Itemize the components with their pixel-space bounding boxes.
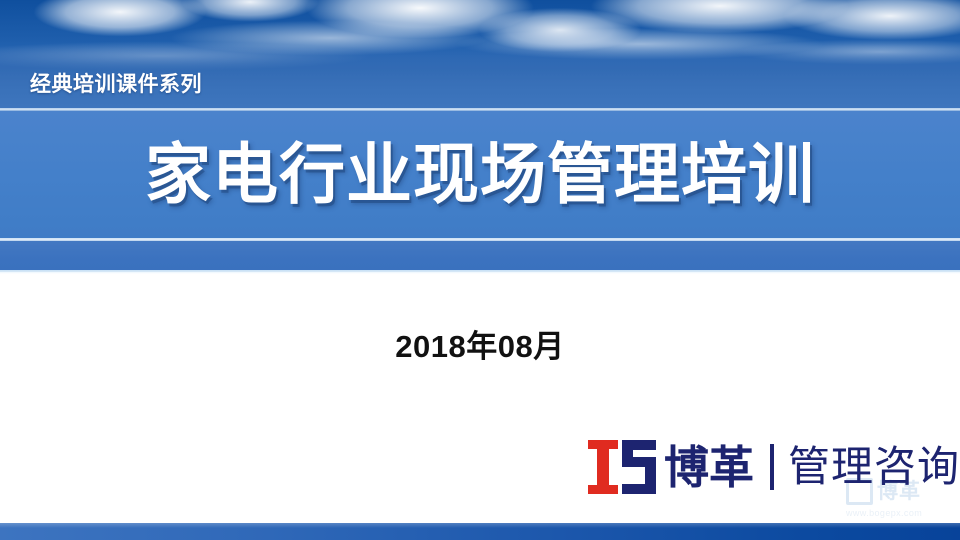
- brand-logo: 博革 管理咨询: [586, 432, 930, 502]
- bogé-logo-mark-icon: [586, 438, 658, 496]
- lower-accent-band: [0, 241, 960, 272]
- footer-sheen: [0, 523, 960, 528]
- slide-title: 家电行业现场管理培训: [0, 130, 960, 218]
- brand-tagline: 管理咨询: [788, 446, 960, 488]
- slide-date: 2018年08月: [0, 321, 960, 366]
- divider-line-top: [0, 108, 960, 111]
- brand-name: 博革: [664, 445, 754, 490]
- brand-divider: [770, 444, 774, 490]
- watermark-url: www.bogepx.com: [846, 508, 922, 518]
- footer-bar: [0, 523, 960, 540]
- divider-line-middle: [0, 238, 960, 241]
- series-kicker-label: 经典培训课件系列: [30, 68, 202, 98]
- presentation-slide: 经典培训课件系列 家电行业现场管理培训 2018年08月: [0, 0, 960, 540]
